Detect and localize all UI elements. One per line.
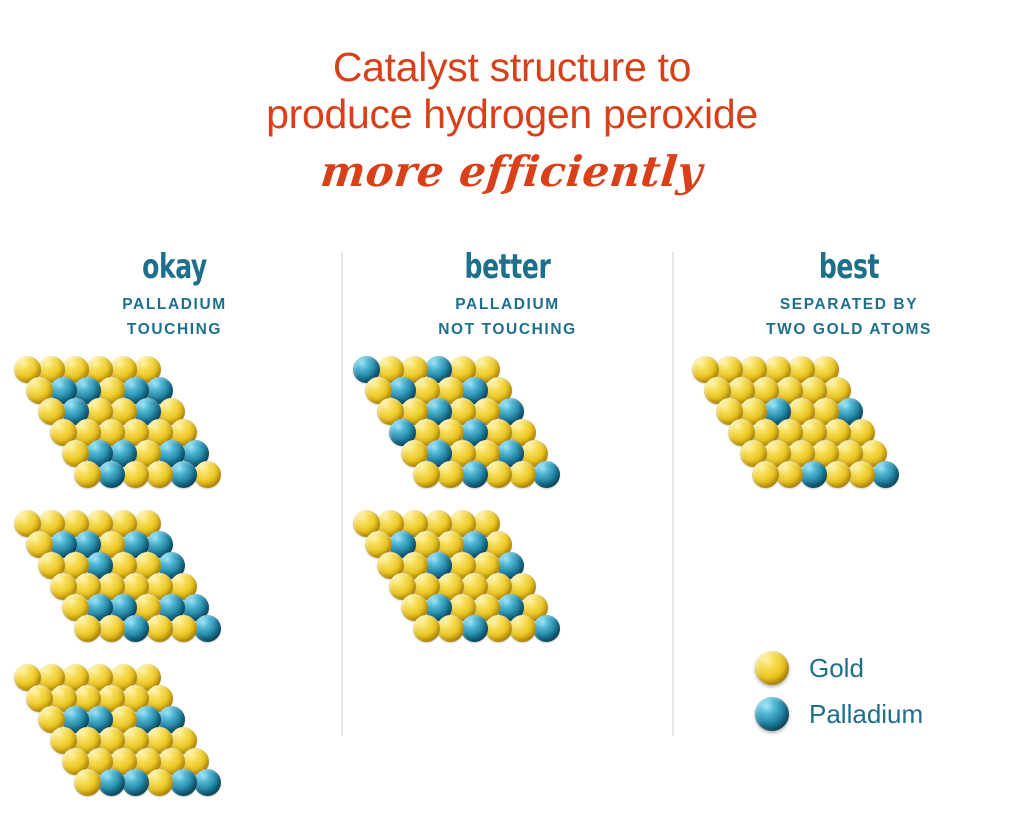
palladium-atom [461,615,488,642]
column-okay-subtitle: PALLADIUM TOUCHING [8,292,341,342]
lattice-stack-better [343,356,672,664]
palladium-atom [170,461,197,488]
column-better-subtitle-line-2: NOT TOUCHING [343,317,672,342]
column-better-header: better PALLADIUM NOT TOUCHING [343,248,672,342]
palladium-atom [461,461,488,488]
palladium-atom [170,769,197,796]
gold-atom [752,461,779,488]
gold-atom [98,615,125,642]
atom-lattice [353,510,560,642]
column-better-subtitle-line-1: PALLADIUM [343,292,672,317]
palladium-atom-icon [755,697,789,731]
gold-atom [509,615,536,642]
gold-atom [413,461,440,488]
gold-atom [824,461,851,488]
gold-atom [170,615,197,642]
atom-lattice [14,356,221,488]
gold-atom [485,461,512,488]
gold-atom-icon [755,651,789,685]
gold-atom [194,461,221,488]
gold-atom [74,461,101,488]
gold-atom [437,461,464,488]
legend-item-gold: Gold [755,645,1015,691]
column-best-title: best [706,248,993,286]
gold-atom [413,615,440,642]
gold-atom [146,461,173,488]
column-okay-subtitle-line-2: TOUCHING [8,317,341,342]
gold-atom [485,615,512,642]
title-script-line: more efficiently [318,144,705,200]
column-okay-header: okay PALLADIUM TOUCHING [8,248,341,342]
legend-item-palladium: Palladium [755,691,1015,737]
atom-lattice [353,356,560,488]
column-okay-subtitle-line-1: PALLADIUM [8,292,341,317]
column-best: best SEPARATED BY TWO GOLD ATOMS [674,248,1024,510]
legend: Gold Palladium [755,645,1015,737]
gold-atom [776,461,803,488]
column-better-title: better [373,248,643,286]
atom-lattice [692,356,899,488]
gold-atom [74,615,101,642]
palladium-atom [122,615,149,642]
column-best-subtitle-line-1: SEPARATED BY [674,292,1024,317]
title-line-2: produce hydrogen peroxide [0,91,1024,138]
title-line-1: Catalyst structure to [0,44,1024,91]
atom-lattice [14,510,221,642]
gold-atom [437,615,464,642]
column-okay: okay PALLADIUM TOUCHING [8,248,341,818]
palladium-atom [194,769,221,796]
gold-atom [122,461,149,488]
palladium-atom [98,461,125,488]
palladium-atom [533,461,560,488]
legend-label-gold: Gold [809,653,864,683]
palladium-atom [533,615,560,642]
palladium-atom [122,769,149,796]
palladium-atom [194,615,221,642]
title-block: Catalyst structure to produce hydrogen p… [0,44,1024,200]
column-best-header: best SEPARATED BY TWO GOLD ATOMS [674,248,1024,342]
palladium-atom [872,461,899,488]
gold-atom [146,769,173,796]
gold-atom [146,615,173,642]
palladium-atom [800,461,827,488]
legend-label-palladium: Palladium [809,699,923,729]
column-better-subtitle: PALLADIUM NOT TOUCHING [343,292,672,342]
gold-atom [509,461,536,488]
palladium-atom [98,769,125,796]
atom-lattice [14,664,221,796]
column-best-subtitle-line-2: TWO GOLD ATOMS [674,317,1024,342]
column-okay-title: okay [38,248,311,286]
gold-atom [74,769,101,796]
column-better: better PALLADIUM NOT TOUCHING [343,248,672,664]
column-best-subtitle: SEPARATED BY TWO GOLD ATOMS [674,292,1024,342]
lattice-stack-okay [8,356,341,818]
lattice-stack-best [674,356,1024,510]
gold-atom [848,461,875,488]
